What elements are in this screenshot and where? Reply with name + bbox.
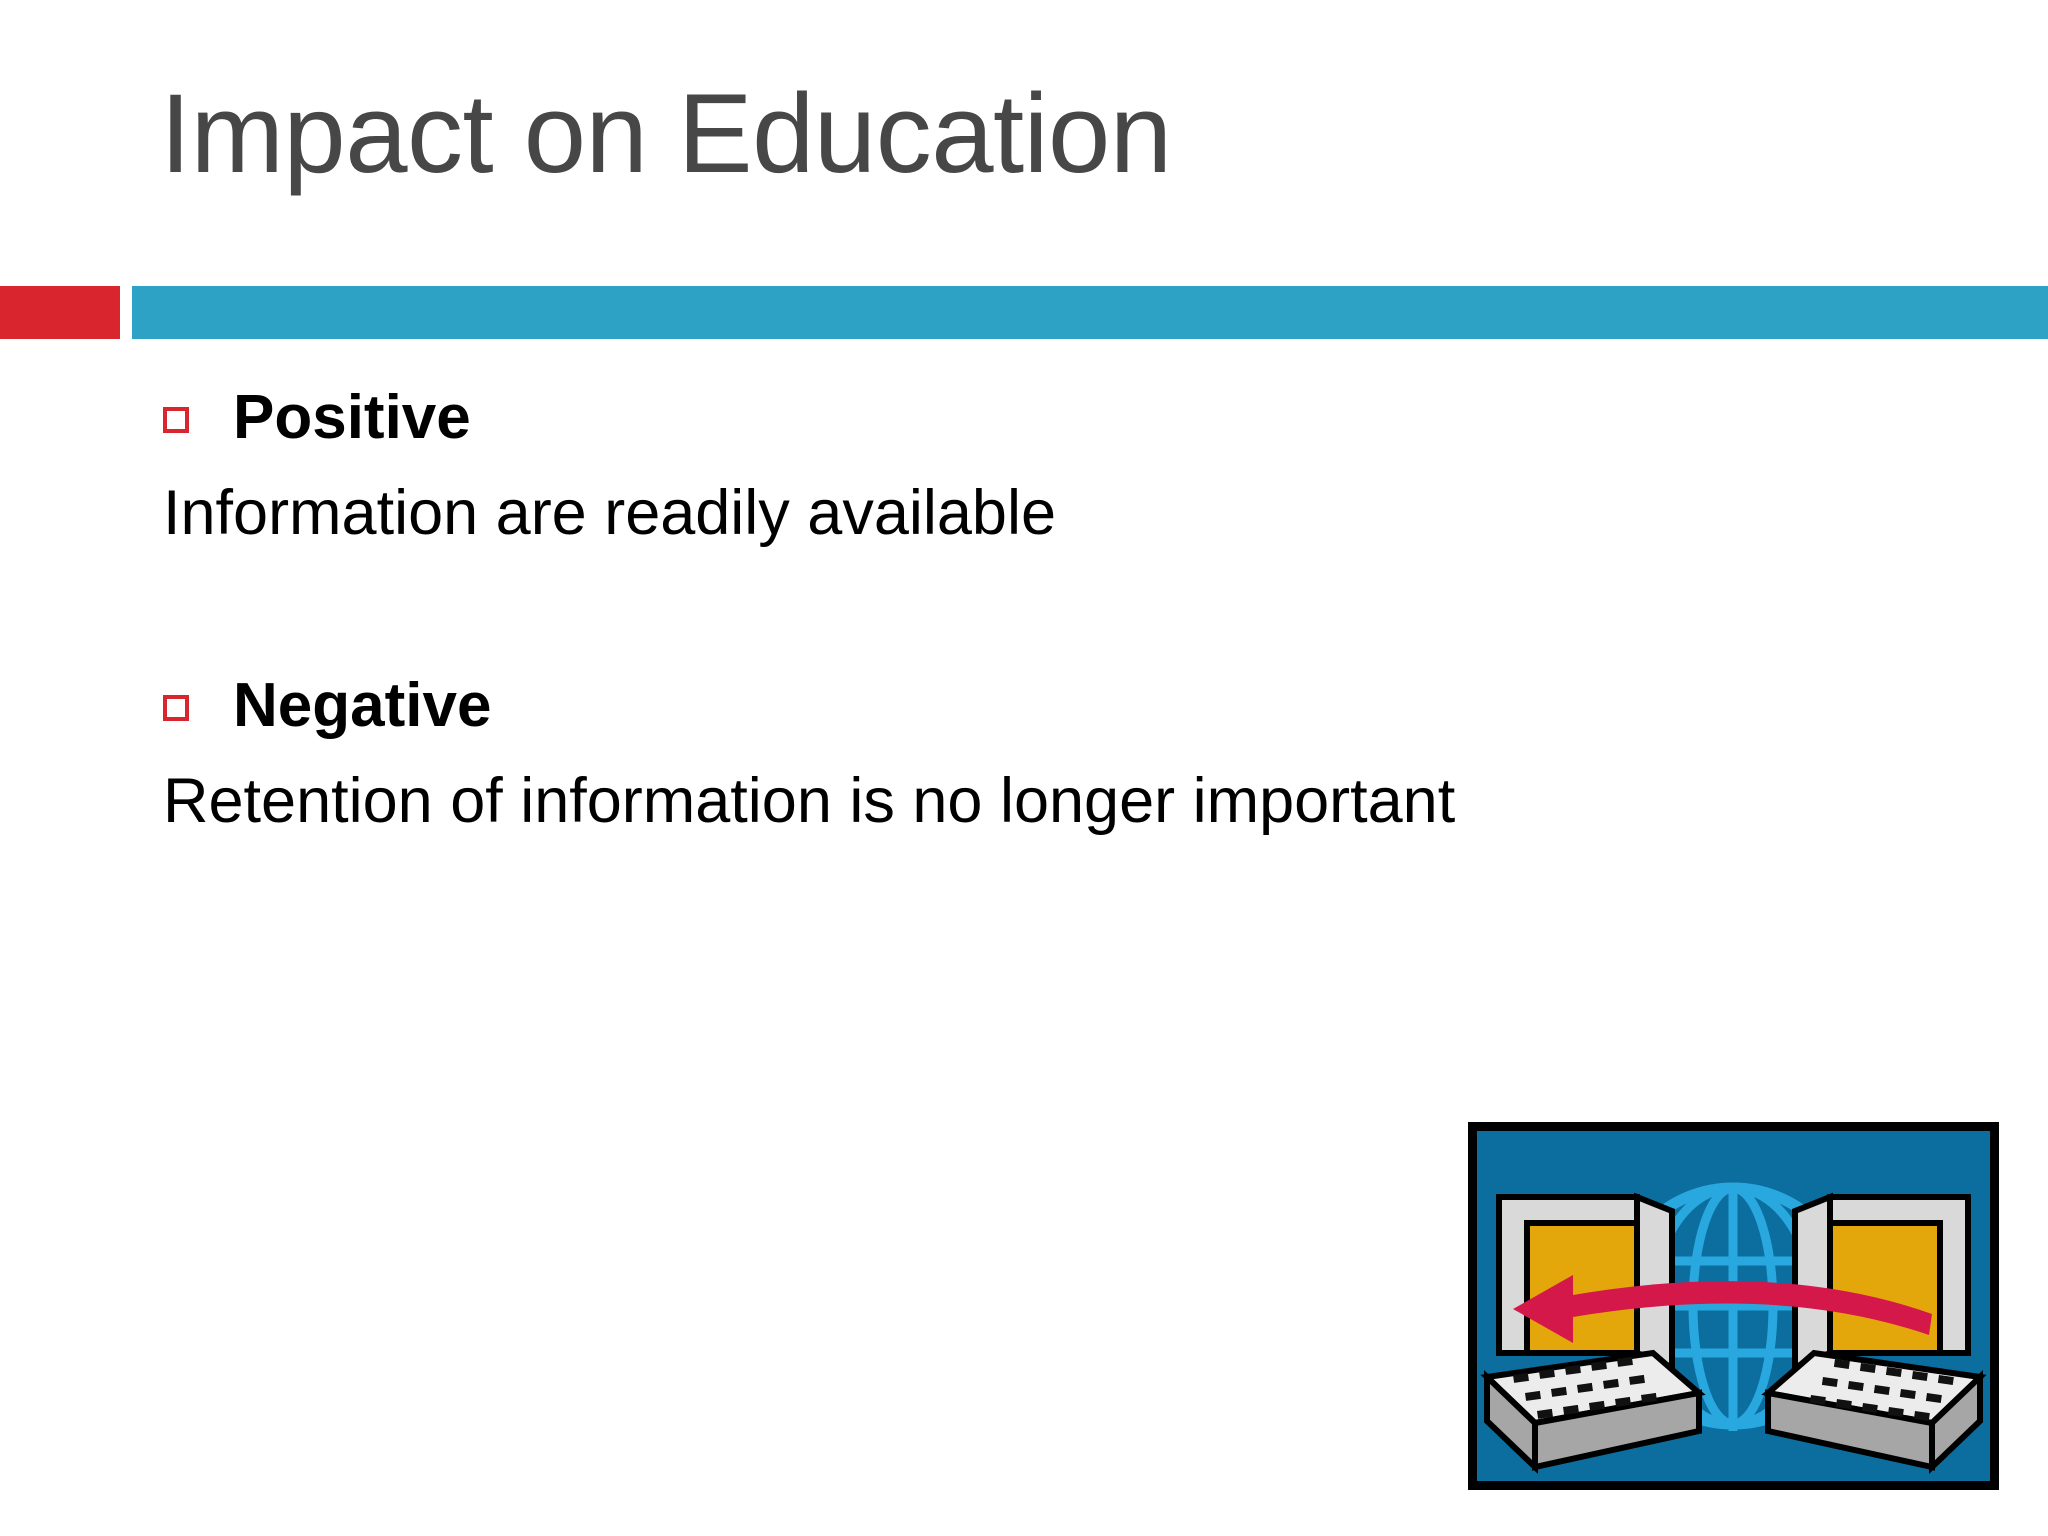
slide: Impact on Education Positive Information… — [0, 0, 2048, 1536]
list-item-positive: Positive — [0, 375, 2048, 461]
list-item-negative: Negative — [0, 663, 2048, 749]
detail-text-negative: Retention of information is no longer im… — [163, 770, 1455, 833]
detail-negative: Retention of information is no longer im… — [0, 749, 2048, 853]
left-laptop-screen — [1499, 1197, 1672, 1367]
detail-positive: Information are readily available — [0, 461, 2048, 565]
clipart-canvas — [1477, 1131, 1990, 1481]
page-title: Impact on Education — [160, 78, 1920, 190]
bullet-label-positive: Positive — [233, 387, 471, 449]
right-laptop-screen — [1795, 1197, 1968, 1367]
square-bullet-icon — [163, 695, 189, 721]
detail-text-positive: Information are readily available — [163, 482, 1056, 545]
square-bullet-icon — [163, 407, 189, 433]
divider-accent-block — [0, 286, 120, 339]
title-divider — [0, 286, 2048, 339]
slide-body: Positive Information are readily availab… — [0, 375, 2048, 853]
two-laptops-globe-icon — [1477, 1131, 1990, 1481]
body-spacer — [0, 565, 2048, 663]
clipart-frame — [1468, 1122, 1999, 1490]
bullet-label-negative: Negative — [233, 675, 491, 737]
divider-bar — [132, 286, 2048, 339]
